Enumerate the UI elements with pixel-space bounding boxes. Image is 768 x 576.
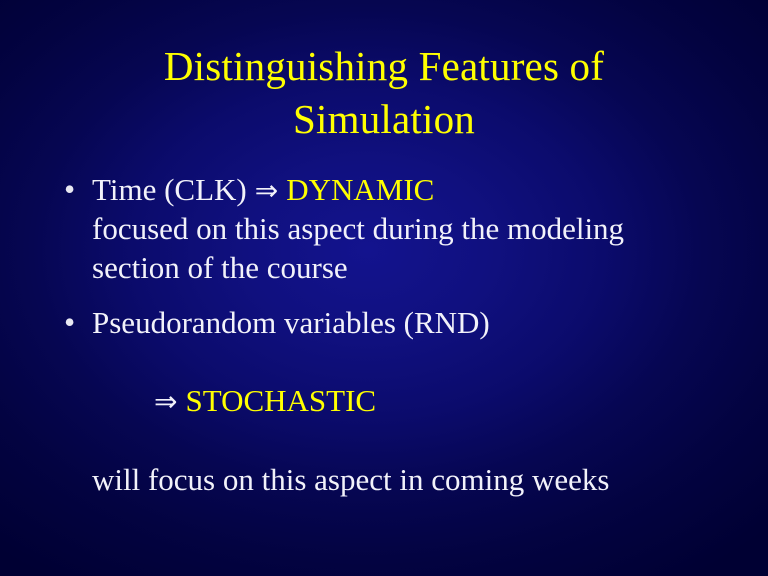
- bullet-item-2: • Pseudorandom variables (RND) ⇒STOCHAST…: [56, 303, 736, 499]
- bullet-2-sub-line-1: will focus on this aspect in coming week…: [56, 460, 736, 499]
- bullet-1-lead-text: Time (CLK): [92, 172, 247, 207]
- slide-canvas: Distinguishing Features of Simulation • …: [0, 0, 768, 576]
- bullet-2-lead-text: Pseudorandom variables (RND): [92, 305, 490, 340]
- bullet-1-highlight-term: DYNAMIC: [286, 172, 434, 207]
- slide-body: • Time (CLK)⇒DYNAMIC focused on this asp…: [56, 170, 736, 515]
- title-line-1: Distinguishing Features of: [56, 40, 712, 93]
- bullet-2-highlight-term: STOCHASTIC: [185, 383, 376, 418]
- implies-arrow-icon: ⇒: [154, 385, 177, 418]
- bullet-2-lead-line: • Pseudorandom variables (RND): [56, 303, 736, 342]
- bullet-1-lead-line: • Time (CLK)⇒DYNAMIC: [56, 170, 736, 209]
- bullet-point-icon: •: [64, 303, 84, 342]
- bullet-2-arrow-line: ⇒STOCHASTIC: [56, 342, 736, 460]
- bullet-point-icon: •: [64, 170, 84, 209]
- slide-title: Distinguishing Features of Simulation: [56, 40, 712, 146]
- bullet-1-sub-line-1: focused on this aspect during the modeli…: [56, 209, 736, 248]
- implies-arrow-icon: ⇒: [255, 174, 278, 207]
- bullet-1-sub-line-2: section of the course: [56, 248, 736, 287]
- bullet-item-1: • Time (CLK)⇒DYNAMIC focused on this asp…: [56, 170, 736, 287]
- title-line-2: Simulation: [56, 93, 712, 146]
